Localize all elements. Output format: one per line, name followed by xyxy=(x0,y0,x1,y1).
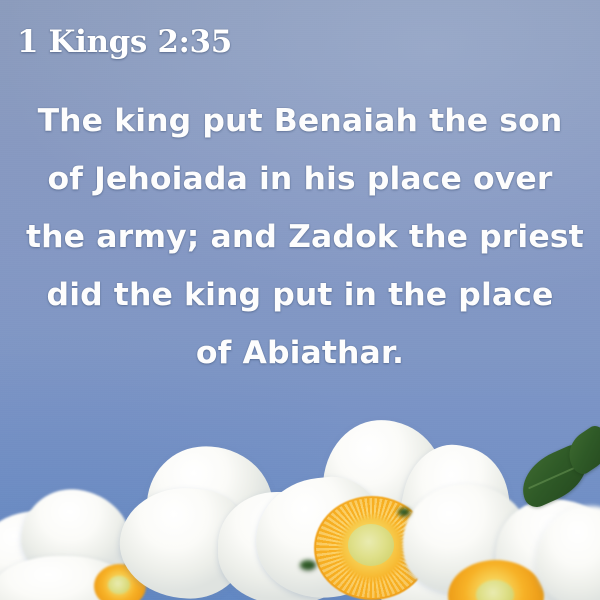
flower-photo-band xyxy=(0,410,600,600)
scripture-verse-card: 1 Kings 2:35 The king put Benaiah the so… xyxy=(0,0,600,600)
verse-text-block: The king put Benaiah the son of Jehoiada… xyxy=(0,92,600,382)
leaf-right xyxy=(508,438,600,548)
verse-line: of Jehoiada in his place over xyxy=(26,150,574,208)
bud-speck xyxy=(300,560,316,570)
verse-line: The king put Benaiah the son xyxy=(26,92,574,150)
verse-line: of Abiathar. xyxy=(26,324,574,382)
flower-core xyxy=(348,524,394,566)
verse-line: the army; and Zadok the priest xyxy=(26,208,574,266)
verse-line: did the king put in the place xyxy=(26,266,574,324)
bud-speck xyxy=(398,508,410,516)
scripture-reference: 1 Kings 2:35 xyxy=(17,24,232,60)
